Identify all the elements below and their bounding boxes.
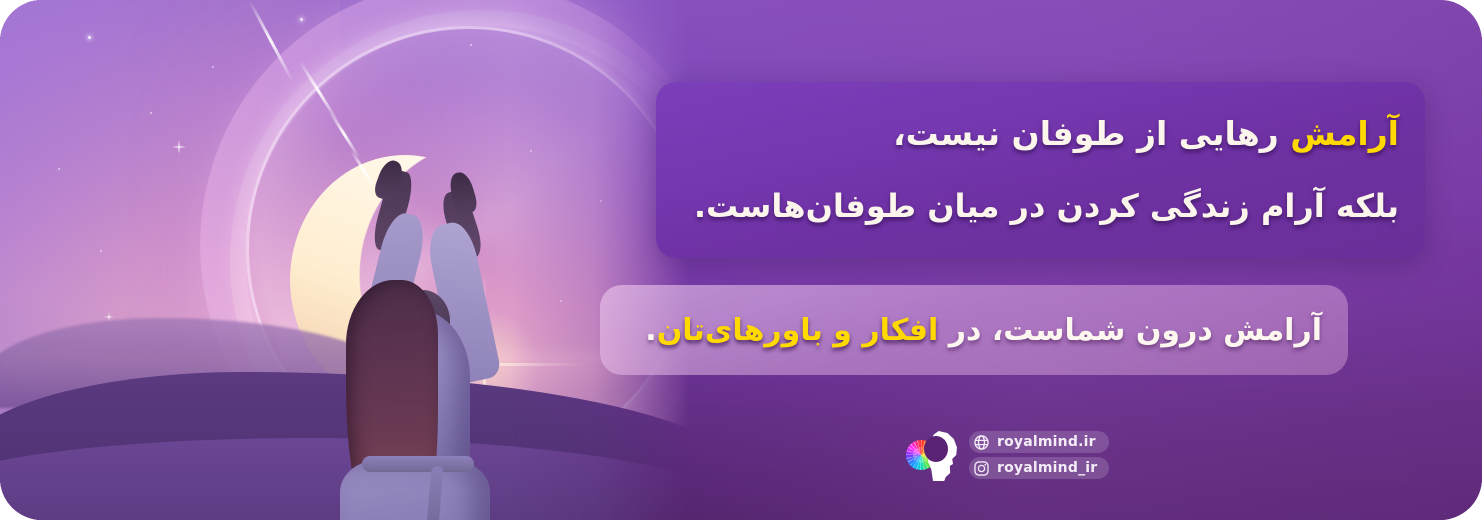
promo-banner: آرامش رهایی از طوفان نیست، بلکه آرام زند… — [0, 0, 1482, 520]
star-icon — [150, 112, 152, 114]
quote-line-1-rest: رهایی از طوفان نیست، — [893, 114, 1290, 153]
star-icon — [58, 168, 60, 170]
quote-line-3-end: . — [645, 313, 656, 348]
quote-line-3-start: آرامش درون شماست، در — [938, 313, 1322, 348]
star-icon — [100, 250, 102, 252]
quote-highlight-word: آرامش — [1290, 114, 1399, 153]
instagram-pill[interactable]: royalmind_ir — [969, 457, 1109, 479]
star-icon — [300, 18, 303, 21]
quote-line-1: آرامش رهایی از طوفان نیست، — [893, 116, 1399, 152]
contact-pills: royalmind.ir royalmind_ir — [969, 431, 1109, 479]
head-inner-cutout — [924, 436, 948, 462]
quote-card-secondary: آرامش درون شماست، در افکار و باورهای‌تان… — [600, 285, 1348, 375]
royalmind-logo — [905, 427, 961, 483]
quote-line-3: آرامش درون شماست، در افکار و باورهای‌تان… — [645, 313, 1322, 348]
globe-icon — [973, 434, 990, 451]
sparkle-star-icon — [178, 140, 180, 154]
website-label: royalmind.ir — [997, 434, 1096, 450]
instagram-label: royalmind_ir — [997, 460, 1097, 476]
star-icon — [212, 66, 214, 68]
brand-block: royalmind.ir royalmind_ir — [905, 427, 1109, 483]
hero-photo — [0, 0, 690, 520]
woman-silhouette — [300, 160, 550, 520]
quote-line-3-highlight: افکار و باورهای‌تان — [657, 313, 939, 348]
instagram-icon — [973, 460, 990, 477]
website-pill[interactable]: royalmind.ir — [969, 431, 1109, 453]
star-icon — [88, 36, 91, 39]
quote-card-primary: آرامش رهایی از طوفان نیست، بلکه آرام زند… — [656, 82, 1425, 258]
quote-line-2: بلکه آرام زندگی کردن در میان طوفان‌هاست. — [694, 189, 1399, 224]
